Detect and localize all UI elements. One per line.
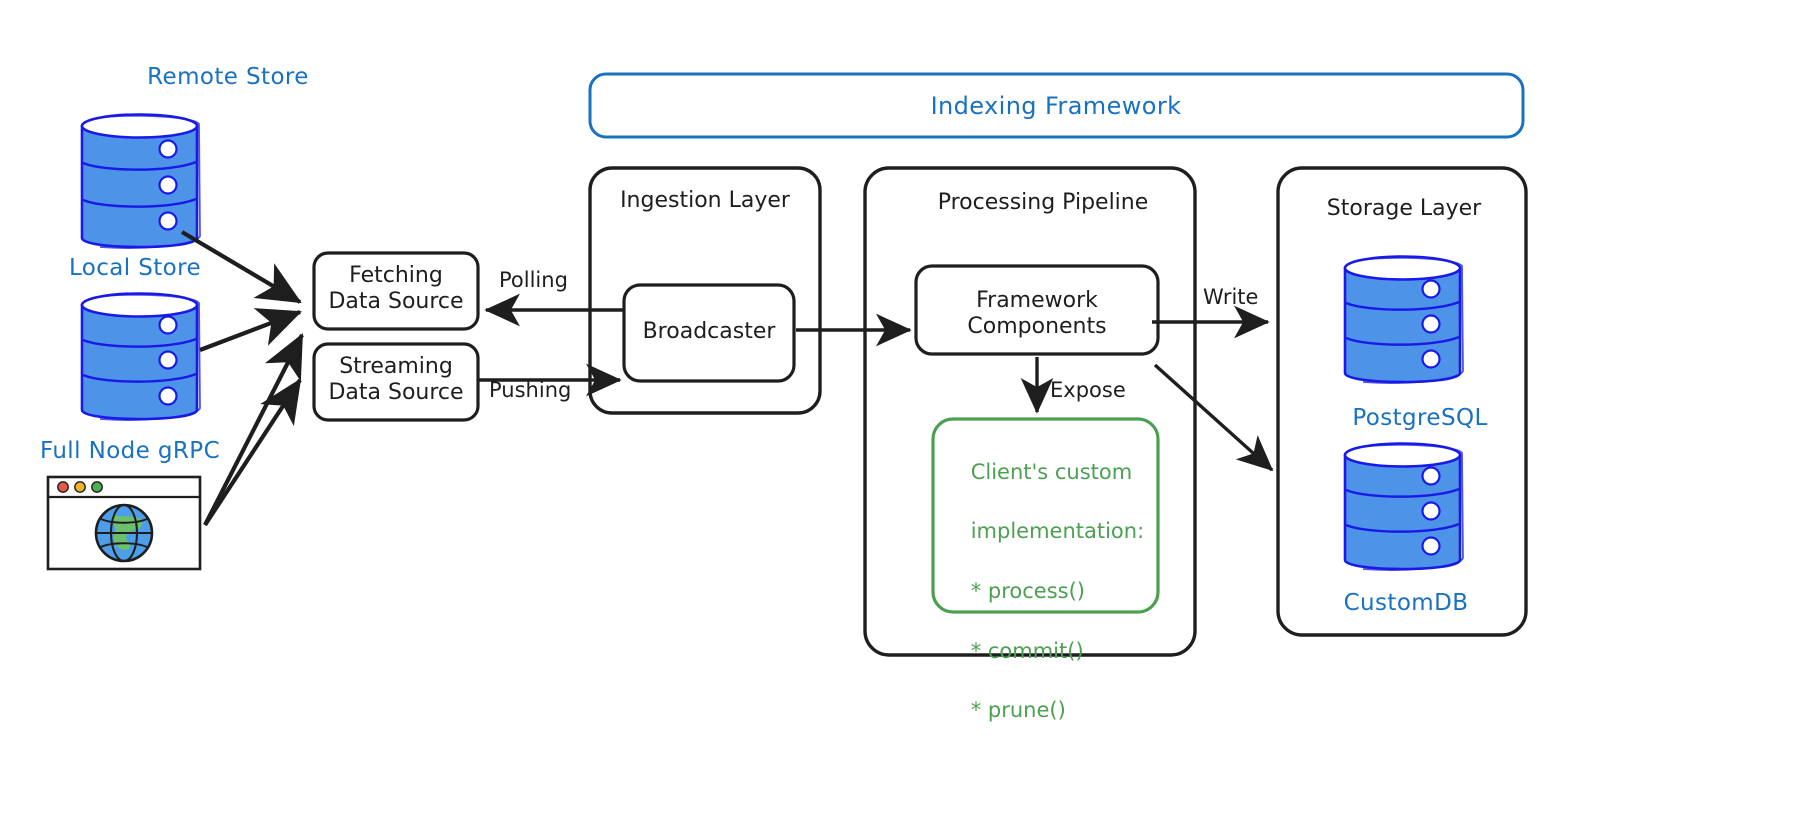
broadcaster-label[interactable]: Broadcaster — [619, 319, 799, 345]
customdb-label: CustomDB — [1344, 590, 1469, 617]
remote-store-cylinder — [82, 115, 200, 248]
framework-components-label[interactable]: FrameworkComponents — [917, 288, 1157, 340]
postgresql-cylinder — [1345, 257, 1463, 383]
diagram-shapes — [0, 0, 1796, 818]
local-store-label: Local Store — [69, 255, 201, 282]
client-custom-implementation-text: Client's custom implementation: * proces… — [944, 428, 1159, 756]
indexing-framework-title: Indexing Framework — [931, 92, 1182, 120]
ingestion-layer-title: Ingestion Layer — [595, 188, 815, 214]
write-edge-label: Write — [1203, 285, 1258, 310]
fetching-data-source-label[interactable]: FetchingData Source — [316, 263, 476, 315]
browser-window-globe-icon — [48, 477, 200, 569]
write-customdb-arrow — [1155, 365, 1272, 470]
postgresql-label: PostgreSQL — [1352, 405, 1487, 432]
storage-layer-title: Storage Layer — [1284, 196, 1524, 222]
storage-layer-container — [1278, 168, 1526, 635]
processing-pipeline-title: Processing Pipeline — [893, 190, 1193, 216]
full-node-grpc-label: Full Node gRPC — [40, 438, 220, 465]
streaming-data-source-label[interactable]: StreamingData Source — [316, 354, 476, 406]
polling-edge-label: Polling — [499, 268, 568, 293]
remote-store-label: Remote Store — [147, 64, 309, 91]
local-store-cylinder — [82, 294, 200, 420]
expose-edge-label: Expose — [1050, 378, 1126, 403]
customdb-cylinder — [1345, 444, 1463, 570]
pushing-edge-label: Pushing — [489, 378, 571, 403]
globe-icon — [96, 505, 152, 561]
diagram-canvas: Remote Store Local Store Full Node gRPC … — [0, 0, 1796, 818]
